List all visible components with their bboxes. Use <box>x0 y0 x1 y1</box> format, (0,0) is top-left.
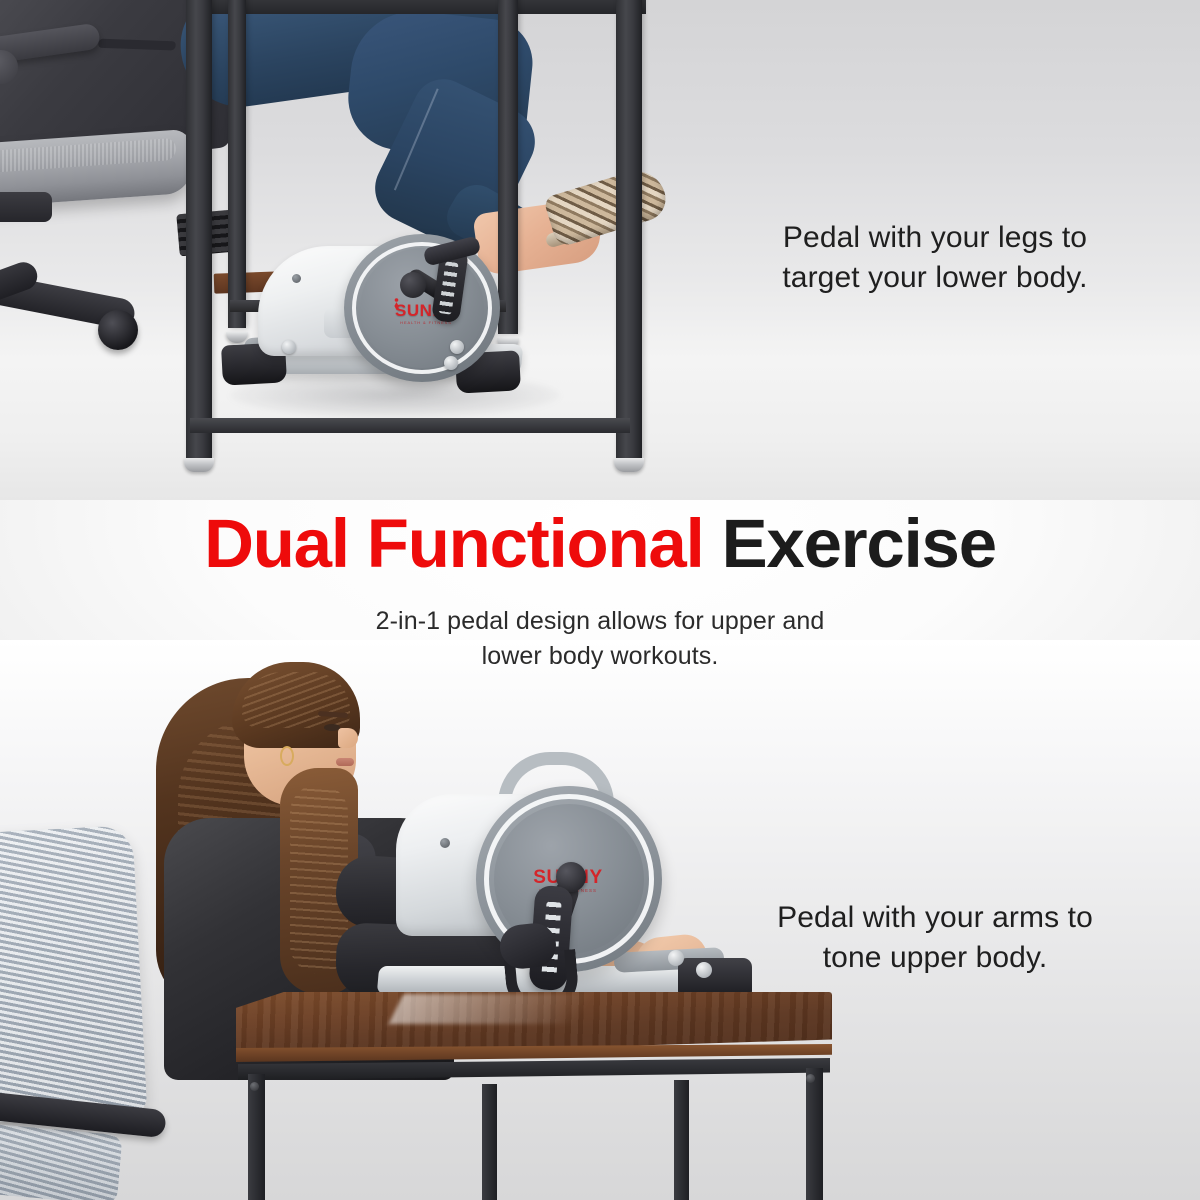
pedal-exerciser-bottom: SUNNY HEALTH & FITNESS <box>378 752 738 1022</box>
hoop-earring <box>280 746 294 766</box>
caption-lower-body: Pedal with your legs to target your lowe… <box>700 218 1170 298</box>
exerciser-crank-hub <box>400 272 426 298</box>
brand-tagline: HEALTH & FITNESS <box>386 321 466 325</box>
desk-foot-glide <box>184 458 214 472</box>
nose <box>338 728 358 748</box>
headline: Dual Functional Exercise <box>0 508 1200 580</box>
under-desk-shadow-shape <box>232 1088 302 1200</box>
exerciser-adjust-knob <box>282 340 296 354</box>
desk-bolt <box>806 1074 815 1083</box>
desk-surface-highlight <box>389 994 664 1024</box>
headline-dark-word: Exercise <box>722 505 996 582</box>
chair-mesh-backrest <box>0 825 147 1125</box>
desk-bolt <box>250 1082 259 1091</box>
desk-leg <box>674 1080 689 1200</box>
desk-leg <box>806 1068 823 1200</box>
subheadline: 2-in-1 pedal design allows for upper and… <box>240 604 960 674</box>
under-desk-denim-legs <box>285 1092 496 1200</box>
headline-dark <box>704 505 722 582</box>
wooden-desk <box>236 992 876 1200</box>
desk-leg-front <box>616 0 642 460</box>
exerciser-shell-bolt <box>292 274 301 283</box>
desk-leg <box>482 1084 497 1200</box>
desk-foot-glide <box>614 458 644 472</box>
exerciser-adjust-knob <box>668 950 684 966</box>
headline-red: Dual Functional <box>204 505 704 582</box>
desk-leg-front <box>186 0 212 460</box>
exerciser-adjust-knob <box>444 356 458 370</box>
desk-bottom-rail <box>190 418 630 433</box>
exerciser-shell-bolt <box>440 838 450 848</box>
promo-image: SUNNY HEALTH & FITNESS <box>0 0 1200 1200</box>
desk-top-rail <box>186 0 646 14</box>
pedal-exerciser-top: SUNNY HEALTH & FITNESS <box>218 228 558 398</box>
exerciser-adjust-knob <box>450 340 464 354</box>
desk-apron-rail <box>238 1058 830 1080</box>
lips <box>336 758 354 766</box>
caption-upper-body: Pedal with your arms to tone upper body. <box>700 898 1170 978</box>
desk-leg <box>248 1074 265 1200</box>
sunny-figure-icon <box>393 298 400 310</box>
